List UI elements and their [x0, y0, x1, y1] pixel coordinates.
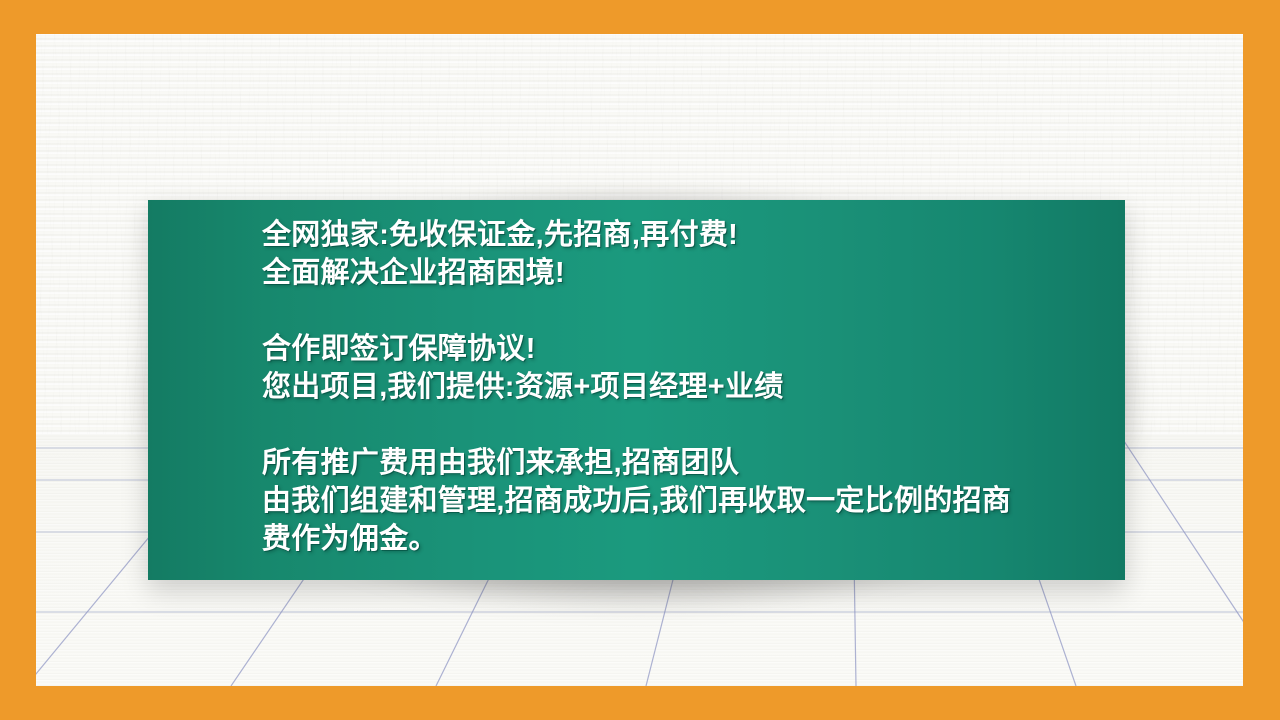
panel-line-spacer-2 — [262, 406, 1115, 444]
panel-line-9: 费作为佣金。 — [262, 520, 1115, 558]
panel-line-2: 全面解决企业招商困境! — [262, 254, 1115, 292]
panel-line-4: 合作即签订保障协议! — [262, 330, 1115, 368]
slide-root: 全网独家:免收保证金,先招商,再付费! 全面解决企业招商困境! 合作即签订保障协… — [0, 0, 1280, 720]
panel-line-7: 所有推广费用由我们来承担,招商团队 — [262, 444, 1115, 482]
panel-line-8: 由我们组建和管理,招商成功后,我们再收取一定比例的招商 — [262, 482, 1115, 520]
stage-scene: 全网独家:免收保证金,先招商,再付费! 全面解决企业招商困境! 合作即签订保障协… — [36, 34, 1243, 686]
panel-copy-block: 全网独家:免收保证金,先招商,再付费! 全面解决企业招商困境! 合作即签订保障协… — [262, 216, 1115, 558]
panel-line-5: 您出项目,我们提供:资源+项目经理+业绩 — [262, 368, 1115, 406]
panel-line-spacer-1 — [262, 292, 1115, 330]
green-message-panel: 全网独家:免收保证金,先招商,再付费! 全面解决企业招商困境! 合作即签订保障协… — [148, 200, 1125, 580]
panel-line-1: 全网独家:免收保证金,先招商,再付费! — [262, 216, 1115, 254]
